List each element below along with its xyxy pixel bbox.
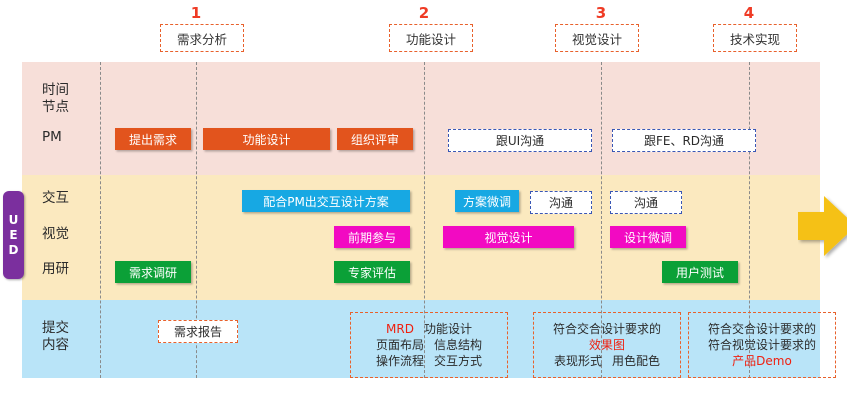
deliverable-box-mrd[interactable]: MRD功能设计页面布局信息结构操作流程交互方式 [350,312,508,378]
milestone-number-4: 4 [737,4,761,22]
task-bar-pm-0[interactable]: 提出需求 [115,128,191,150]
deliverable-text: MRD [386,321,414,337]
deliverable-line: 效果图 [589,337,625,353]
row-label-visual: 视觉 [42,226,98,242]
row-label-interaction: 交互 [42,190,98,206]
ued-side-tab: U E D [3,191,24,279]
row-label-text: 节点 [42,99,98,116]
deliverable-text: 交互方式 [434,353,482,369]
deliverable-text: 功能设计 [424,321,472,337]
deliverable-text: 用色配色 [612,353,660,369]
dashed-box-interaction-3[interactable]: 沟通 [610,191,682,214]
deliverable-box-visual-output[interactable]: 符合交合设计要求的效果图表现形式用色配色 [533,312,681,378]
milestone-chip-1[interactable]: 需求分析 [160,24,244,52]
ued-letter-d: D [9,243,19,258]
task-bar-research-10[interactable]: 用户测试 [662,261,738,283]
task-bar-visual-6[interactable]: 视觉设计 [443,226,574,248]
milestone-chip-2[interactable]: 功能设计 [389,24,473,52]
milestone-chip-4[interactable]: 技术实现 [713,24,797,52]
task-bar-visual-7[interactable]: 设计微调 [610,226,686,248]
row-label-text: 内容 [42,337,98,354]
task-bar-pm-1[interactable]: 功能设计 [203,128,330,150]
deliverable-line: 符合视觉设计要求的 [708,337,816,353]
row-label-time-node: 时间节点 [42,82,98,116]
task-bar-interaction-4[interactable]: 方案微调 [455,190,519,212]
phase-divider-line-0 [100,62,101,378]
milestone-chip-3[interactable]: 视觉设计 [555,24,639,52]
roadmap-diagram: 1需求分析2功能设计3视觉设计4技术实现 时间节点PM交互视觉用研提交内容 提出… [0,0,847,400]
deliverable-text: 产品Demo [732,353,792,369]
task-bar-interaction-3[interactable]: 配合PM出交互设计方案 [242,190,410,212]
task-bar-research-9[interactable]: 专家评估 [334,261,410,283]
dashed-box-pm-0[interactable]: 跟UI沟通 [448,129,592,152]
band-pm [22,62,820,175]
row-label-research: 用研 [42,261,98,277]
right-arrow-icon [798,192,847,260]
task-bar-visual-5[interactable]: 前期参与 [334,226,410,248]
deliverable-text: 页面布局 [376,337,424,353]
task-bar-research-8[interactable]: 需求调研 [115,261,191,283]
row-label-text: 交互 [42,190,98,206]
dashed-box-deliverables-4[interactable]: 需求报告 [158,320,238,343]
deliverable-line: 产品Demo [732,353,792,369]
deliverable-text: 符合交合设计要求的 [553,321,661,337]
row-label-pm: PM [42,129,98,145]
deliverable-line: 符合交合设计要求的 [553,321,661,337]
deliverable-text: 符合视觉设计要求的 [708,337,816,353]
deliverable-text: 效果图 [589,337,625,353]
task-bar-pm-2[interactable]: 组织评审 [337,128,413,150]
deliverable-line: 符合交合设计要求的 [708,321,816,337]
row-label-text: 时间 [42,82,98,99]
milestone-number-2: 2 [412,4,436,22]
deliverable-line: MRD功能设计 [386,321,472,337]
deliverable-text: 表现形式 [554,353,602,369]
deliverable-text: 符合交合设计要求的 [708,321,816,337]
dashed-box-interaction-2[interactable]: 沟通 [530,191,592,214]
row-label-text: 提交 [42,320,98,337]
row-label-text: 用研 [42,261,98,277]
milestone-number-3: 3 [589,4,613,22]
deliverable-line: 操作流程交互方式 [376,353,482,369]
row-label-text: 视觉 [42,226,98,242]
deliverable-line: 表现形式用色配色 [554,353,660,369]
row-label-text: PM [42,129,98,145]
ued-letter-u: U [9,213,19,228]
deliverable-line: 页面布局信息结构 [376,337,482,353]
dashed-box-pm-1[interactable]: 跟FE、RD沟通 [612,129,756,152]
deliverable-text: 操作流程 [376,353,424,369]
ued-letter-e: E [9,228,17,243]
deliverable-text: 信息结构 [434,337,482,353]
milestone-number-1: 1 [184,4,208,22]
deliverable-box-product-demo[interactable]: 符合交合设计要求的符合视觉设计要求的产品Demo [688,312,836,378]
row-label-deliverables: 提交内容 [42,320,98,354]
